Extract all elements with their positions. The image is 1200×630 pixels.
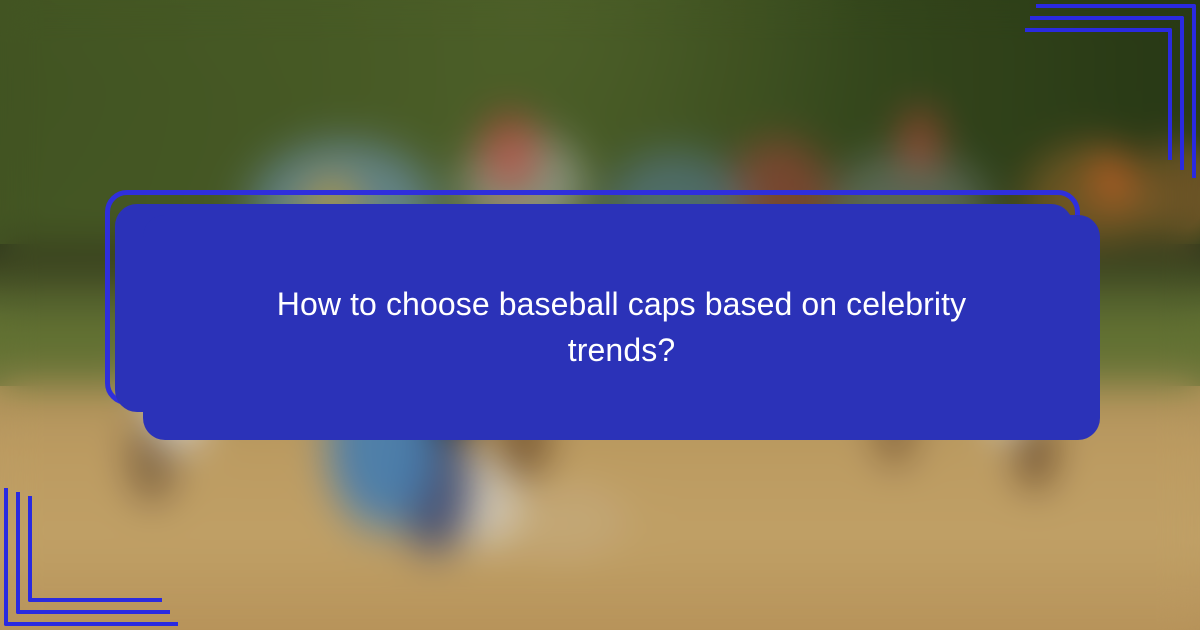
title-card: How to choose baseball caps based on cel…	[143, 215, 1100, 440]
corner-bracket-line-3	[1025, 28, 1172, 160]
corner-bracket-line-3	[28, 496, 162, 602]
card-title-text: How to choose baseball caps based on cel…	[272, 282, 972, 373]
share-card-canvas: How to choose baseball caps based on cel…	[0, 0, 1200, 630]
